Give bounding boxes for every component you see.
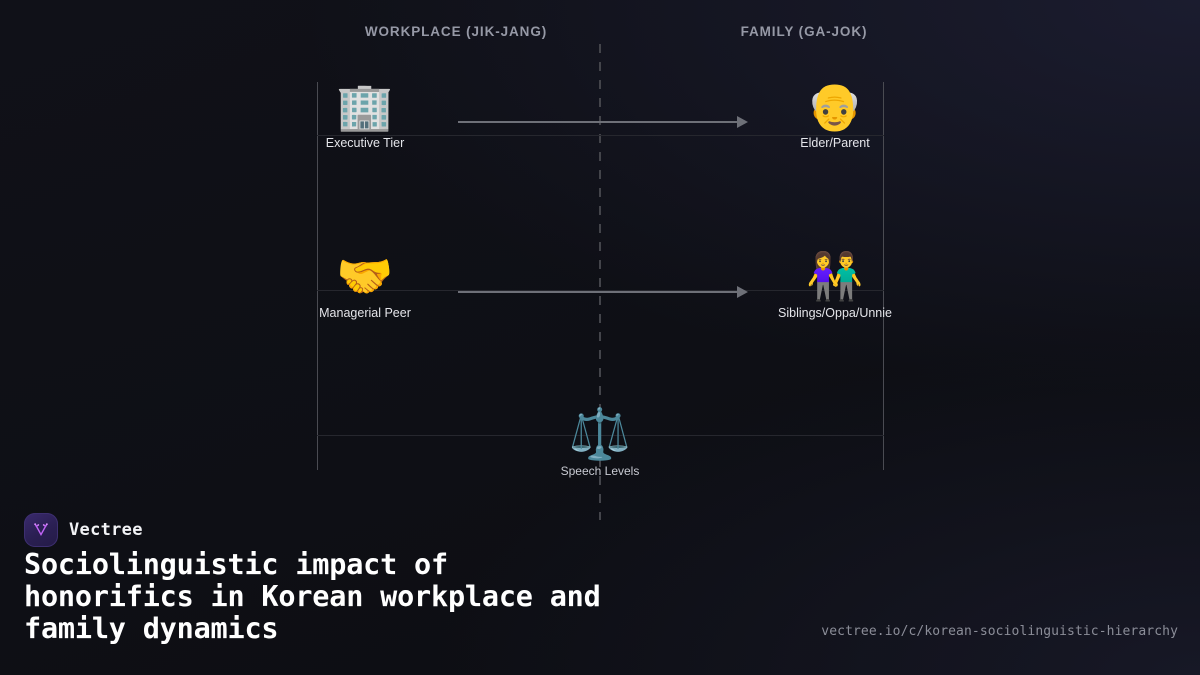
older-person-icon: 👴 [740,80,930,132]
footer-branding-bar: Vectree Sociolinguistic impact of honori… [0,505,1200,675]
brand-block[interactable]: Vectree [24,513,143,547]
column-header-family: FAMILY (GA-JOK) [664,24,944,39]
node-elder-parent[interactable]: 👴 Elder/Parent [740,80,930,150]
balance-scale-icon: ⚖️ [505,406,695,462]
arrowhead-right-icon [737,286,748,298]
connector-shaft [458,291,738,293]
node-managerial-peer[interactable]: 🤝 Managerial Peer [270,250,460,320]
node-label-executive-tier: Executive Tier [270,136,460,150]
node-speech-levels[interactable]: ⚖️ Speech Levels [505,406,695,478]
node-executive-tier[interactable]: 🏢 Executive Tier [270,80,460,150]
node-label-managerial-peer: Managerial Peer [270,306,460,320]
arrowhead-right-icon [737,116,748,128]
connector-shaft [458,121,738,123]
node-label-speech-levels: Speech Levels [505,464,695,478]
column-header-workplace: WORKPLACE (JIK-JANG) [316,24,596,39]
vectree-logo-icon [24,513,58,547]
office-building-icon: 🏢 [270,80,460,132]
node-label-elder-parent: Elder/Parent [740,136,930,150]
two-people-icon: 👫 [740,250,930,302]
handshake-icon: 🤝 [270,250,460,302]
brand-name: Vectree [69,520,143,540]
page-title: Sociolinguistic impact of honorifics in … [24,549,824,645]
node-siblings[interactable]: 👫 Siblings/Oppa/Unnie [740,250,930,320]
node-label-siblings: Siblings/Oppa/Unnie [740,306,930,320]
page-background: WORKPLACE (JIK-JANG) FAMILY (GA-JOK) 🏢 E… [0,0,1200,675]
source-url: vectree.io/c/korean-sociolinguistic-hier… [821,624,1178,639]
connector-exec-to-elder [458,116,748,128]
diagram-canvas: WORKPLACE (JIK-JANG) FAMILY (GA-JOK) 🏢 E… [0,0,1200,505]
connector-peer-to-siblings [458,286,748,298]
